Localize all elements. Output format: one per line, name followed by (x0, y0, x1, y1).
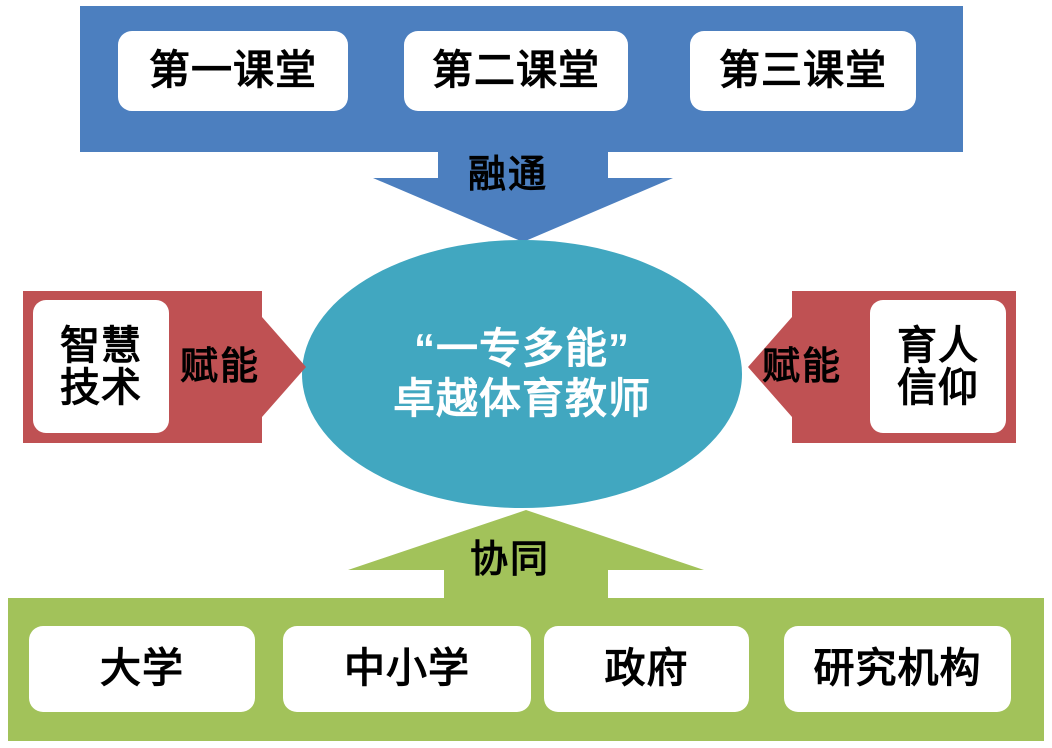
center-ellipse: “一专多能” 卓越体育教师 (302, 240, 742, 508)
chip-education-belief[interactable]: 育人 信仰 (870, 300, 1006, 433)
chip-second-classroom[interactable]: 第二课堂 (404, 31, 628, 111)
chip-smart-technology[interactable]: 智慧 技术 (33, 300, 169, 433)
chip-third-classroom[interactable]: 第三课堂 (690, 31, 916, 111)
center-title-line-2: 卓越体育教师 (393, 374, 651, 424)
chip-first-classroom[interactable]: 第一课堂 (118, 31, 348, 111)
diagram-canvas: 第一课堂 第二课堂 第三课堂 融通 “一专多能” 卓越体育教师 智慧 技术 赋能… (0, 0, 1052, 748)
chip-government[interactable]: 政府 (544, 626, 749, 712)
arrow-label-xietong: 协同 (470, 541, 550, 579)
arrow-label-funeng-right: 赋能 (762, 348, 842, 386)
chip-research-institute[interactable]: 研究机构 (784, 626, 1011, 712)
arrow-label-rongtong: 融通 (468, 156, 548, 194)
center-title-line-1: “一专多能” (414, 324, 630, 374)
chip-education-belief-line-2: 信仰 (897, 367, 979, 409)
arrow-label-funeng-left: 赋能 (180, 348, 260, 386)
chip-smart-technology-line-2: 技术 (60, 367, 142, 409)
chip-university[interactable]: 大学 (29, 626, 255, 712)
chip-smart-technology-line-1: 智慧 (60, 325, 142, 367)
chip-education-belief-line-1: 育人 (897, 325, 979, 367)
chip-primary-secondary-school[interactable]: 中小学 (283, 626, 531, 712)
